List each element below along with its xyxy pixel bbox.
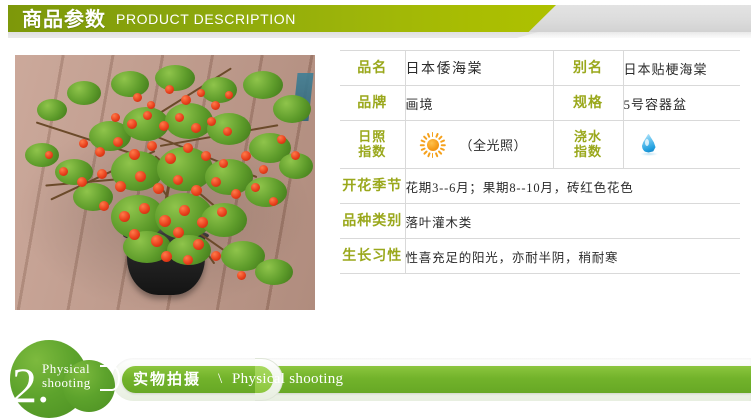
foliage	[67, 81, 101, 105]
blossom	[277, 135, 286, 144]
water-drop-body	[642, 134, 656, 153]
blossom	[135, 171, 146, 182]
blossom	[99, 201, 109, 211]
blossom	[211, 177, 221, 187]
spec-value-sunlight-label: （全光照）	[460, 135, 528, 154]
blossom	[223, 127, 232, 136]
blossom	[165, 85, 174, 94]
section-badge-tail	[100, 365, 120, 391]
blossom	[251, 183, 260, 192]
blossom	[147, 141, 157, 151]
banner-bar-inner	[122, 366, 751, 393]
product-spec-table: 品名 日本倭海棠 别名 日本贴梗海棠 品牌 画境 规格 5号容器盆 日照 指数	[340, 50, 740, 274]
spec-label-variety-type: 品种类别	[340, 204, 405, 239]
spec-value-growth-habit: 性喜充足的阳光，亦耐半阴，稍耐寒	[405, 239, 740, 274]
foliage	[37, 99, 67, 121]
banner-title-en: Physical shooting	[232, 369, 343, 390]
blossom	[291, 151, 300, 160]
blossom	[259, 165, 268, 174]
blossom	[241, 151, 251, 161]
blossom	[97, 169, 107, 179]
blossom	[231, 189, 241, 199]
blossom	[269, 197, 278, 206]
spec-label-sunlight-line2: 指数	[340, 145, 405, 160]
blossom	[127, 119, 137, 129]
table-row: 生长习性 性喜充足的阳光，亦耐半阴，稍耐寒	[340, 239, 740, 274]
spec-value-flowering-season: 花期3--6月；果期8--10月，砖红色花色	[405, 169, 740, 204]
spec-label-watering-index: 浇水 指数	[553, 121, 623, 169]
page-title-cn: 商品参数	[22, 6, 106, 32]
foliage	[165, 103, 213, 139]
blossom	[191, 123, 201, 133]
blossom	[193, 239, 204, 250]
blossom	[77, 177, 87, 187]
spec-label-sunlight-line1: 日照	[340, 130, 405, 145]
section-banner: 2. Physical shooting 实物拍摄 \ Physical sho…	[0, 338, 751, 419]
spec-label-flowering-season: 开花季节	[340, 169, 405, 204]
blossom	[153, 183, 164, 194]
foliage	[243, 71, 283, 99]
foliage	[273, 95, 311, 123]
blossom	[179, 205, 190, 216]
water-drop-shadow	[640, 152, 658, 156]
product-photo	[15, 55, 315, 310]
spec-value-size: 5号容器盆	[623, 86, 740, 121]
foliage	[25, 143, 59, 167]
sun-icon	[420, 132, 446, 158]
spec-label-alias: 别名	[553, 51, 623, 86]
blossom	[159, 121, 169, 131]
foliage	[201, 77, 237, 103]
section-badge-text: Physical shooting	[42, 362, 91, 390]
blossom	[211, 251, 221, 261]
spec-label-product-name: 品名	[340, 51, 405, 86]
blossom	[95, 147, 105, 157]
spec-value-sunlight: （全光照）	[405, 121, 553, 169]
spec-value-variety-type: 落叶灌木类	[405, 204, 740, 239]
blossom	[45, 151, 53, 159]
blossom	[173, 227, 184, 238]
blossom	[217, 207, 227, 217]
page-title-en: PRODUCT DESCRIPTION	[116, 10, 296, 29]
blossom	[147, 101, 155, 109]
blossom	[181, 95, 191, 105]
blossom	[175, 113, 184, 122]
blossom	[237, 271, 246, 280]
foliage	[245, 177, 287, 207]
spec-value-brand: 画境	[405, 86, 553, 121]
spec-value-product-name: 日本倭海棠	[405, 51, 553, 86]
blossom	[111, 113, 120, 122]
spec-label-watering-line2: 指数	[554, 145, 623, 160]
blossom	[173, 175, 183, 185]
spec-label-sunlight-index: 日照 指数	[340, 121, 405, 169]
page-header: 商品参数 PRODUCT DESCRIPTION	[0, 5, 751, 39]
banner-title-cn: 实物拍摄	[133, 369, 201, 390]
blossom	[151, 235, 163, 247]
table-row: 品牌 画境 规格 5号容器盆	[340, 86, 740, 121]
blossom	[159, 215, 171, 227]
water-drop-highlight	[645, 139, 649, 146]
blossom	[225, 91, 233, 99]
spec-value-alias: 日本贴梗海棠	[623, 51, 740, 86]
blossom	[183, 255, 193, 265]
blossom	[165, 153, 176, 164]
table-row: 品种类别 落叶灌木类	[340, 204, 740, 239]
spec-label-watering-line1: 浇水	[554, 130, 623, 145]
blossom	[133, 93, 142, 102]
blossom	[207, 117, 216, 126]
blossom	[183, 143, 193, 153]
spec-label-size: 规格	[553, 86, 623, 121]
banner-separator: \	[218, 369, 222, 390]
blossom	[161, 251, 172, 262]
water-drop-icon	[640, 133, 658, 157]
blossom	[129, 149, 140, 160]
foliage	[111, 71, 149, 97]
header-green-shadow	[8, 32, 538, 38]
foliage	[155, 65, 195, 91]
blossom	[115, 181, 126, 192]
blossom	[219, 159, 228, 168]
blossom	[79, 139, 88, 148]
table-row: 日照 指数 （全光照）	[340, 121, 740, 169]
spec-label-brand: 品牌	[340, 86, 405, 121]
blossom	[113, 137, 123, 147]
blossom	[211, 101, 220, 110]
section-badge-text-line2: shooting	[42, 376, 91, 390]
blossom	[201, 151, 211, 161]
spec-value-watering	[623, 121, 740, 169]
blossom	[119, 211, 130, 222]
section-badge-text-line1: Physical	[42, 362, 91, 376]
spec-label-growth-habit: 生长习性	[340, 239, 405, 274]
blossom	[139, 203, 150, 214]
table-row: 开花季节 花期3--6月；果期8--10月，砖红色花色	[340, 169, 740, 204]
blossom	[191, 185, 202, 196]
table-row: 品名 日本倭海棠 别名 日本贴梗海棠	[340, 51, 740, 86]
blossom	[129, 229, 140, 240]
blossom	[143, 111, 152, 120]
blossom	[59, 167, 68, 176]
foliage	[255, 259, 293, 285]
blossom	[197, 89, 205, 97]
blossom	[197, 217, 208, 228]
